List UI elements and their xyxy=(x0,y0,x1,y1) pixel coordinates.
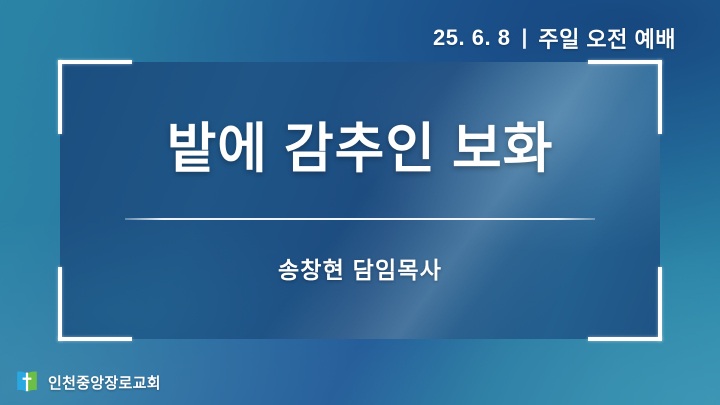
sermon-title-slide: 25. 6. 8 | 주일 오전 예배 밭에 감추인 보화 송창현 담임목사 인… xyxy=(0,0,720,405)
open-bible-cross-icon xyxy=(14,369,40,395)
service-date: 25. 6. 8 xyxy=(433,25,510,51)
speaker-name: 송창현 담임목사 xyxy=(278,251,442,285)
sermon-title: 밭에 감추인 보화 xyxy=(167,120,554,178)
title-divider xyxy=(125,218,595,220)
slide-header: 25. 6. 8 | 주일 오전 예배 xyxy=(433,22,676,54)
church-name: 인천중앙장로교회 xyxy=(48,372,161,393)
service-name: 주일 오전 예배 xyxy=(538,22,676,54)
church-logo: 인천중앙장로교회 xyxy=(14,369,161,395)
panel-content: 밭에 감추인 보화 송창현 담임목사 xyxy=(60,62,660,339)
header-separator: | xyxy=(521,26,527,50)
